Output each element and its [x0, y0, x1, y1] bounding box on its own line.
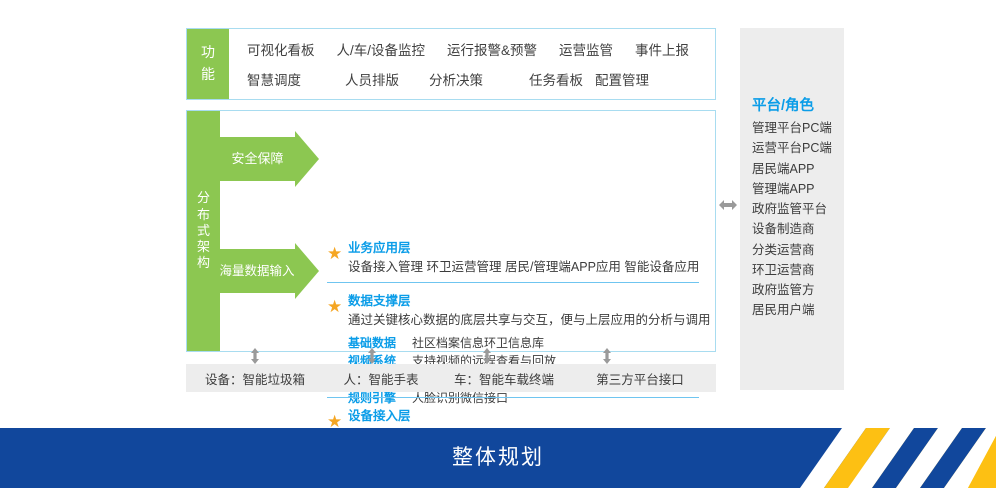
- layer-divider-2: [327, 397, 699, 398]
- role-item-sorting-operator[interactable]: 分类运营商: [752, 240, 844, 260]
- data-sub-item-basic-data[interactable]: 基础数据 社区档案信息环卫信息库: [348, 334, 711, 352]
- data-sub-key-basic-data: 基础数据: [348, 334, 412, 352]
- layer-business-title: 业务应用层: [348, 239, 699, 257]
- role-item-government-supervision-platform[interactable]: 政府监管平台: [752, 199, 844, 219]
- device-item-third-party-interface[interactable]: 第三方平台接口: [570, 369, 710, 388]
- vertical-label-char-1: 分: [197, 190, 210, 206]
- security-arrow-shaft: [220, 137, 295, 181]
- distributed-architecture-label: 分 布 式 架 构: [187, 171, 220, 291]
- function-item-staff-scheduling[interactable]: 人员排版: [345, 69, 399, 89]
- device-item-smart-trash-bin[interactable]: 设备：智能垃圾箱: [186, 369, 324, 388]
- function-item-config-management[interactable]: 配置管理: [595, 69, 649, 89]
- role-item-management-app[interactable]: 管理端APP: [752, 179, 844, 199]
- vertical-double-arrow-icon: [366, 348, 378, 364]
- role-item-sanitation-operator[interactable]: 环卫运营商: [752, 260, 844, 280]
- vertical-label-char-5: 构: [197, 255, 210, 271]
- device-item-smart-watch[interactable]: 人：智能手表: [324, 369, 438, 388]
- vertical-label-char-2: 布: [197, 207, 210, 223]
- layer-business-head: ★ 业务应用层 设备接入管理 环卫运营管理 居民/管理端APP应用 智能设备应用: [327, 239, 699, 277]
- function-item-operation-supervision[interactable]: 运营监管: [559, 39, 613, 59]
- functions-list: 可视化看板 人/车/设备监控 运行报警&预警 运营监管 事件上报 智慧调度 人员…: [229, 29, 715, 99]
- vertical-double-arrow-icon: [249, 348, 261, 364]
- security-arrow-label: 安全保障: [220, 137, 295, 181]
- star-icon: ★: [327, 246, 342, 261]
- layer-device-title: 设备接入层: [348, 407, 699, 425]
- bracket-vertical-bar: [187, 111, 220, 351]
- function-item-operation-alarm-warning[interactable]: 运行报警&预警: [447, 39, 537, 59]
- role-item-resident-client[interactable]: 居民用户端: [752, 300, 844, 320]
- data-input-arrow-head-icon: [295, 243, 319, 299]
- functions-row-1: 可视化看板 人/车/设备监控 运行报警&预警 运营监管 事件上报: [247, 34, 701, 64]
- role-item-management-platform-pc[interactable]: 管理平台PC端: [752, 118, 844, 138]
- functions-row-2: 智慧调度 人员排版 分析决策 任务看板 配置管理: [247, 64, 701, 94]
- star-icon: ★: [327, 414, 342, 429]
- function-item-event-reporting[interactable]: 事件上报: [635, 39, 689, 59]
- layer-divider-1: [327, 282, 699, 283]
- function-item-smart-dispatch[interactable]: 智慧调度: [247, 69, 301, 89]
- star-icon: ★: [327, 299, 342, 314]
- function-item-analysis-decision[interactable]: 分析决策: [429, 69, 483, 89]
- function-item-person-vehicle-device-monitoring[interactable]: 人/车/设备监控: [337, 39, 426, 59]
- role-item-government-supervisor[interactable]: 政府监管方: [752, 280, 844, 300]
- data-input-arrow-label: 海量数据输入: [218, 249, 296, 293]
- security-arrow-head-icon: [295, 131, 319, 187]
- architecture-panel: 分 布 式 架 构 安全保障 海量数据输入 ★ 业务应用层 设备接入管理 环卫运…: [186, 110, 716, 352]
- device-sources-bar: 设备：智能垃圾箱 人：智能手表 车：智能车载终端 第三方平台接口: [186, 364, 716, 392]
- vertical-double-arrow-icon: [601, 348, 613, 364]
- layer-business-desc: 设备接入管理 环卫运营管理 居民/管理端APP应用 智能设备应用: [348, 258, 699, 277]
- horizontal-double-arrow-icon: [718, 195, 738, 215]
- vertical-double-arrow-icon: [481, 348, 493, 364]
- layer-data-desc: 通过关键核心数据的底层共享与交互，便与上层应用的分析与调用: [348, 311, 711, 330]
- functions-panel: 功 能 可视化看板 人/车/设备监控 运行报警&预警 运营监管 事件上报 智慧调…: [186, 28, 716, 100]
- platform-roles-list: 管理平台PC端 运营平台PC端 居民端APP 管理端APP 政府监管平台 设备制…: [752, 118, 844, 321]
- distributed-architecture-bracket: 分 布 式 架 构 安全保障 海量数据输入: [187, 111, 319, 351]
- vertical-label-char-3: 式: [197, 223, 210, 239]
- decorative-stripes: [780, 428, 996, 488]
- functions-label-char-1: 功: [201, 42, 215, 64]
- function-item-visual-dashboard[interactable]: 可视化看板: [247, 39, 315, 59]
- function-item-task-board[interactable]: 任务看板: [529, 69, 583, 89]
- layer-data-title: 数据支撑层: [348, 292, 711, 310]
- device-item-vehicle-terminal[interactable]: 车：智能车载终端: [438, 369, 570, 388]
- data-sub-value-basic-data: 社区档案信息环卫信息库: [412, 334, 544, 352]
- role-item-device-manufacturer[interactable]: 设备制造商: [752, 219, 844, 239]
- vertical-label-char-4: 架: [197, 239, 210, 255]
- layer-business-texts: 业务应用层 设备接入管理 环卫运营管理 居民/管理端APP应用 智能设备应用: [348, 239, 699, 277]
- role-item-resident-app[interactable]: 居民端APP: [752, 159, 844, 179]
- data-input-arrow-shaft: [220, 249, 295, 293]
- functions-label-char-2: 能: [201, 64, 215, 86]
- bottom-banner: 整体规划: [0, 428, 996, 488]
- platform-roles-panel: 平台/角色 管理平台PC端 运营平台PC端 居民端APP 管理端APP 政府监管…: [740, 28, 844, 390]
- platform-roles-title: 平台/角色: [752, 94, 814, 115]
- functions-panel-label: 功 能: [187, 29, 229, 99]
- layer-business-application[interactable]: ★ 业务应用层 设备接入管理 环卫运营管理 居民/管理端APP应用 智能设备应用: [327, 239, 699, 277]
- role-item-operation-platform-pc[interactable]: 运营平台PC端: [752, 138, 844, 158]
